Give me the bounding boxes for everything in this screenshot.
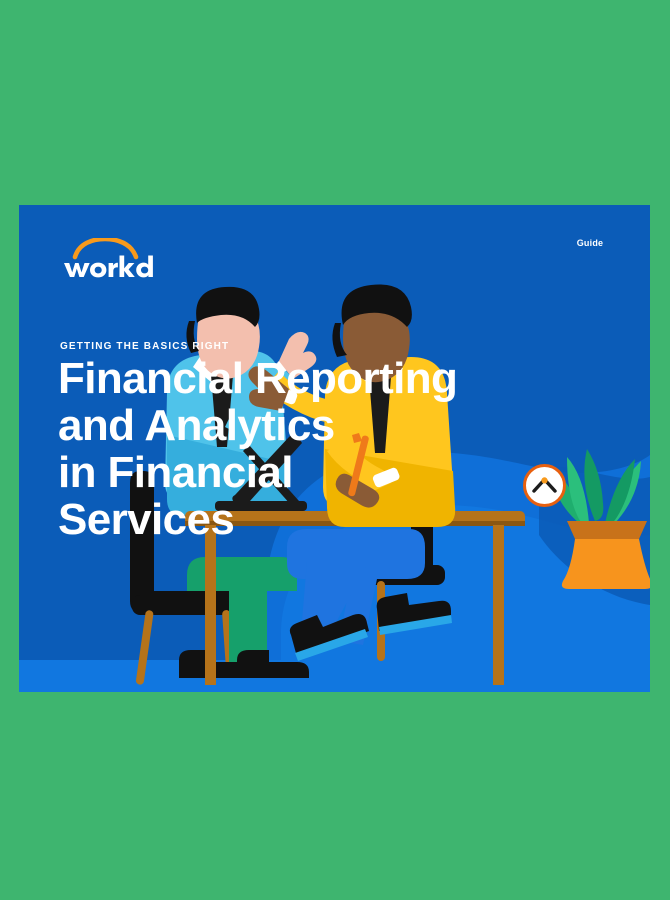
headline-line-4: Services	[58, 496, 488, 543]
page-title: Financial Reporting and Analytics in Fin…	[58, 355, 488, 543]
document-type-label: Guide	[560, 238, 620, 248]
headline-line-1: Financial Reporting	[58, 355, 488, 402]
workday-logo[interactable]	[61, 238, 157, 278]
eyebrow-kicker: GETTING THE BASICS RIGHT	[60, 341, 229, 352]
headline-line-3: in Financial	[58, 449, 488, 496]
headline-line-2: and Analytics	[58, 402, 488, 449]
chevron-up-badge-icon[interactable]	[523, 464, 566, 507]
